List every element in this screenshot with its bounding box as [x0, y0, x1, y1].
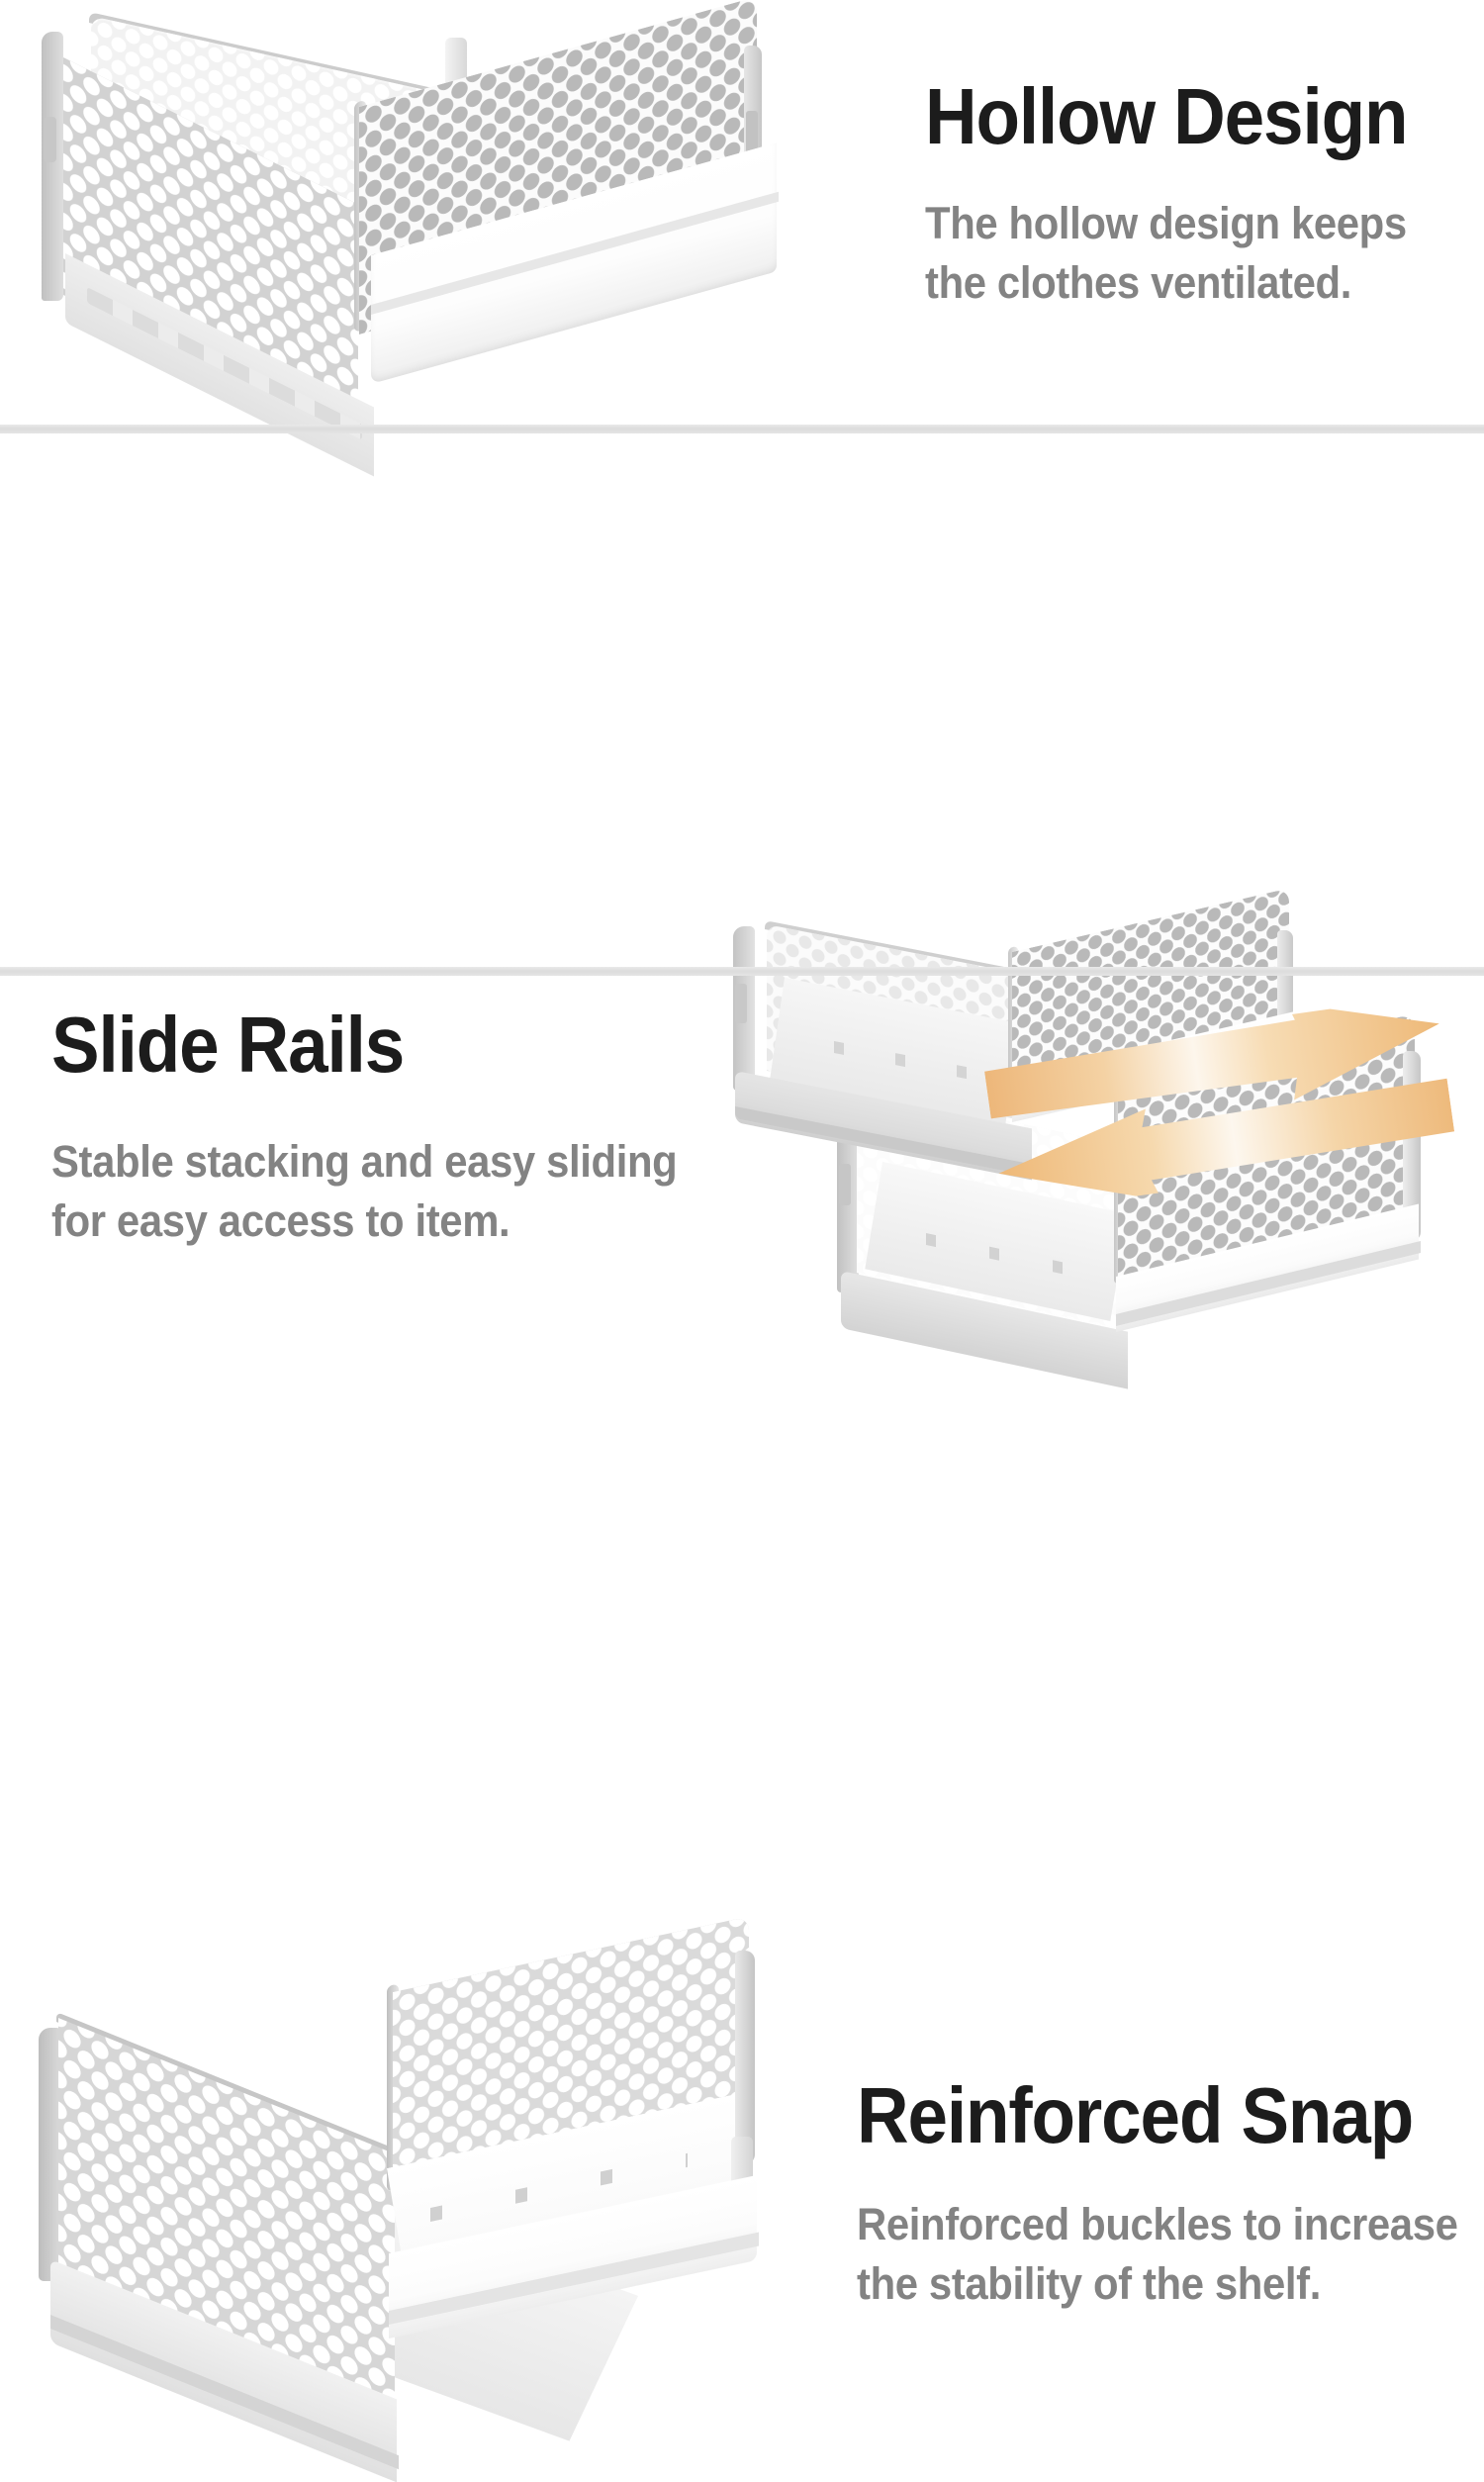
product-image-single-basket [30, 8, 811, 404]
basket-right-corner-post [735, 1951, 755, 2164]
basket-left-corner-post [42, 32, 63, 301]
panel-divider [0, 967, 1484, 976]
feature-description-line: the clothes ventilated. [925, 253, 1418, 313]
panel-divider [0, 425, 1484, 433]
feature-panel-hollow-design: Hollow Design The hollow design keeps th… [0, 0, 1484, 426]
product-image-basket-interior [25, 1970, 846, 2361]
feature-text-hollow-design: Hollow Design The hollow design keeps th… [925, 77, 1455, 313]
feature-text-reinforced-snap: Reinforced Snap Reinforced buckles to in… [857, 2076, 1484, 2314]
feature-description: Reinforced buckles to increase the stabi… [857, 2195, 1458, 2314]
feature-description-line: the stability of the shelf. [857, 2254, 1458, 2314]
feature-title: Hollow Design [925, 77, 1407, 156]
feature-description: The hollow design keeps the clothes vent… [925, 194, 1418, 313]
snap-buckle-clip [44, 117, 56, 162]
feature-panel-slide-rails: Slide Rails Stable stacking and easy sli… [0, 433, 1484, 968]
feature-description-line: The hollow design keeps [925, 194, 1418, 253]
feature-title: Reinforced Snap [857, 2076, 1444, 2155]
feature-description-line: Reinforced buckles to increase [857, 2195, 1458, 2254]
feature-panel-reinforced-snap: Reinforced Snap Reinforced buckles to in… [0, 976, 1484, 1395]
